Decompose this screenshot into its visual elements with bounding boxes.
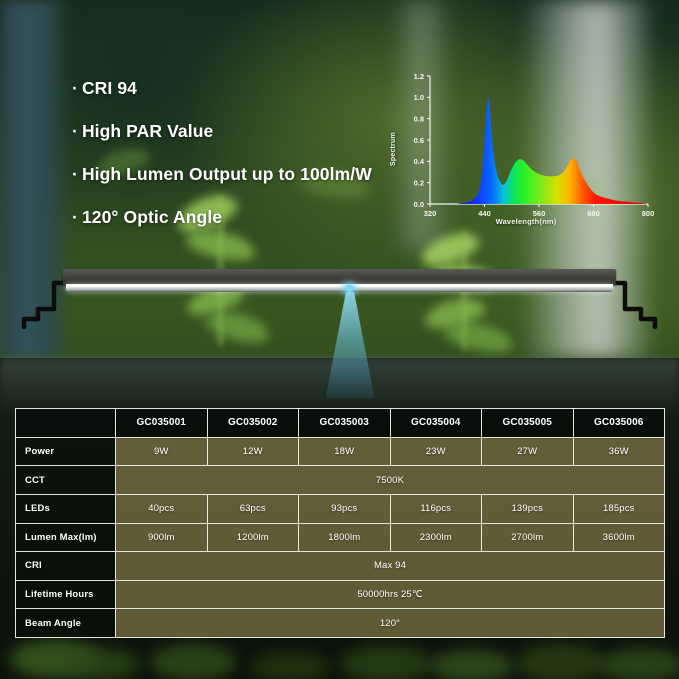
svg-text:1.0: 1.0 bbox=[414, 93, 424, 102]
table-cell: 2300lm bbox=[391, 524, 483, 552]
table-cell: 1800lm bbox=[299, 524, 391, 552]
foliage-blob bbox=[516, 644, 606, 679]
feature-text: High Lumen Output up to 100lm/W bbox=[82, 164, 372, 184]
svg-text:0.8: 0.8 bbox=[414, 114, 424, 123]
svg-text:0.2: 0.2 bbox=[414, 178, 424, 187]
svg-text:0.4: 0.4 bbox=[414, 157, 425, 166]
table-cell-merged: 120° bbox=[116, 609, 664, 637]
feature-text: 120° Optic Angle bbox=[82, 207, 222, 227]
feature-item-optic-angle: ·120° Optic Angle bbox=[72, 207, 402, 228]
table-row: LEDs40pcs63pcs93pcs116pcs139pcs185pcs bbox=[16, 495, 664, 524]
table-row-label: Beam Angle bbox=[16, 609, 116, 637]
table-cell-merged: 50000hrs 25℃ bbox=[116, 581, 664, 609]
table-row: Lumen Max(lm)900lm1200lm1800lm2300lm2700… bbox=[16, 524, 664, 553]
table-cell: 36W bbox=[574, 438, 665, 466]
feature-item-lumen: ·High Lumen Output up to 100lm/W bbox=[72, 164, 402, 185]
table-row-label: Power bbox=[16, 438, 116, 466]
table-cell-merged: Max 94 bbox=[116, 552, 664, 580]
table-row: CRIMax 94 bbox=[16, 552, 664, 581]
table-cell: 3600lm bbox=[574, 524, 665, 552]
table-cell: 139pcs bbox=[482, 495, 574, 523]
led-emitter-dot bbox=[345, 285, 354, 292]
feature-item-par: ·High PAR Value bbox=[72, 121, 402, 142]
table-column-header: GC035001 bbox=[116, 409, 208, 437]
table-cell: 40pcs bbox=[116, 495, 208, 523]
table-cell: 93pcs bbox=[299, 495, 391, 523]
table-row-label: LEDs bbox=[16, 495, 116, 523]
spectrum-fill bbox=[430, 72, 648, 204]
foliage-blob bbox=[430, 650, 514, 679]
table-row-label: Lumen Max(lm) bbox=[16, 524, 116, 552]
table-column-header: GC035006 bbox=[574, 409, 665, 437]
table-row: Power9W12W18W23W27W36W bbox=[16, 438, 664, 467]
foliage-blob bbox=[250, 652, 330, 679]
chart-x-ticks: 320440560680800 bbox=[424, 204, 655, 218]
foliage-blob bbox=[150, 644, 236, 679]
spectrum-chart-svg: 0.00.20.40.60.81.01.2 320440560680800 bbox=[392, 62, 660, 234]
bullet-icon: · bbox=[72, 207, 78, 228]
table-row: Lifetime Hours50000hrs 25℃ bbox=[16, 581, 664, 610]
led-light-fixture bbox=[0, 255, 679, 355]
table-cell: 12W bbox=[208, 438, 300, 466]
table-column-header: GC035004 bbox=[391, 409, 483, 437]
foliage-blob bbox=[600, 648, 679, 679]
svg-text:1.2: 1.2 bbox=[414, 72, 424, 81]
chart-x-axis-label: Wavelength(nm) bbox=[392, 217, 660, 226]
table-cell: 23W bbox=[391, 438, 483, 466]
table-row-label: Lifetime Hours bbox=[16, 581, 116, 609]
chart-y-axis-label: Spectrum bbox=[390, 132, 397, 166]
table-row: CCT7500K bbox=[16, 466, 664, 495]
bullet-icon: · bbox=[72, 78, 78, 99]
spectrum-chart: 0.00.20.40.60.81.01.2 320440560680800 Sp… bbox=[392, 62, 660, 234]
table-cell: 1200lm bbox=[208, 524, 300, 552]
table-cell: 900lm bbox=[116, 524, 208, 552]
table-column-header: GC035003 bbox=[299, 409, 391, 437]
table-row-label: CRI bbox=[16, 552, 116, 580]
table-corner-cell bbox=[16, 409, 116, 437]
bullet-icon: · bbox=[72, 121, 78, 142]
table-cell: 63pcs bbox=[208, 495, 300, 523]
product-infographic: ·CRI 94 ·High PAR Value ·High Lumen Outp… bbox=[0, 0, 679, 679]
table-column-header: GC035002 bbox=[208, 409, 300, 437]
table-header-row: GC035001GC035002GC035003GC035004GC035005… bbox=[16, 409, 664, 438]
svg-text:0.6: 0.6 bbox=[414, 136, 424, 145]
chart-y-ticks: 0.00.20.40.60.81.01.2 bbox=[414, 72, 430, 209]
lamp-lens bbox=[66, 284, 613, 292]
lamp-housing bbox=[63, 269, 616, 285]
specification-table: GC035001GC035002GC035003GC035004GC035005… bbox=[15, 408, 665, 638]
bullet-icon: · bbox=[72, 164, 78, 185]
feature-item-cri: ·CRI 94 bbox=[72, 78, 402, 99]
svg-text:0.0: 0.0 bbox=[414, 200, 424, 209]
table-cell: 27W bbox=[482, 438, 574, 466]
table-cell: 185pcs bbox=[574, 495, 665, 523]
feature-list: ·CRI 94 ·High PAR Value ·High Lumen Outp… bbox=[72, 78, 402, 250]
table-cell: 18W bbox=[299, 438, 391, 466]
table-column-header: GC035005 bbox=[482, 409, 574, 437]
feature-text: CRI 94 bbox=[82, 78, 137, 98]
table-cell: 2700lm bbox=[482, 524, 574, 552]
table-cell-merged: 7500K bbox=[116, 466, 664, 494]
table-row-label: CCT bbox=[16, 466, 116, 494]
foliage-blob bbox=[66, 648, 140, 679]
foliage-blob bbox=[340, 646, 432, 679]
feature-text: High PAR Value bbox=[82, 121, 213, 141]
table-row: Beam Angle120° bbox=[16, 609, 664, 637]
table-cell: 9W bbox=[116, 438, 208, 466]
table-cell: 116pcs bbox=[391, 495, 483, 523]
